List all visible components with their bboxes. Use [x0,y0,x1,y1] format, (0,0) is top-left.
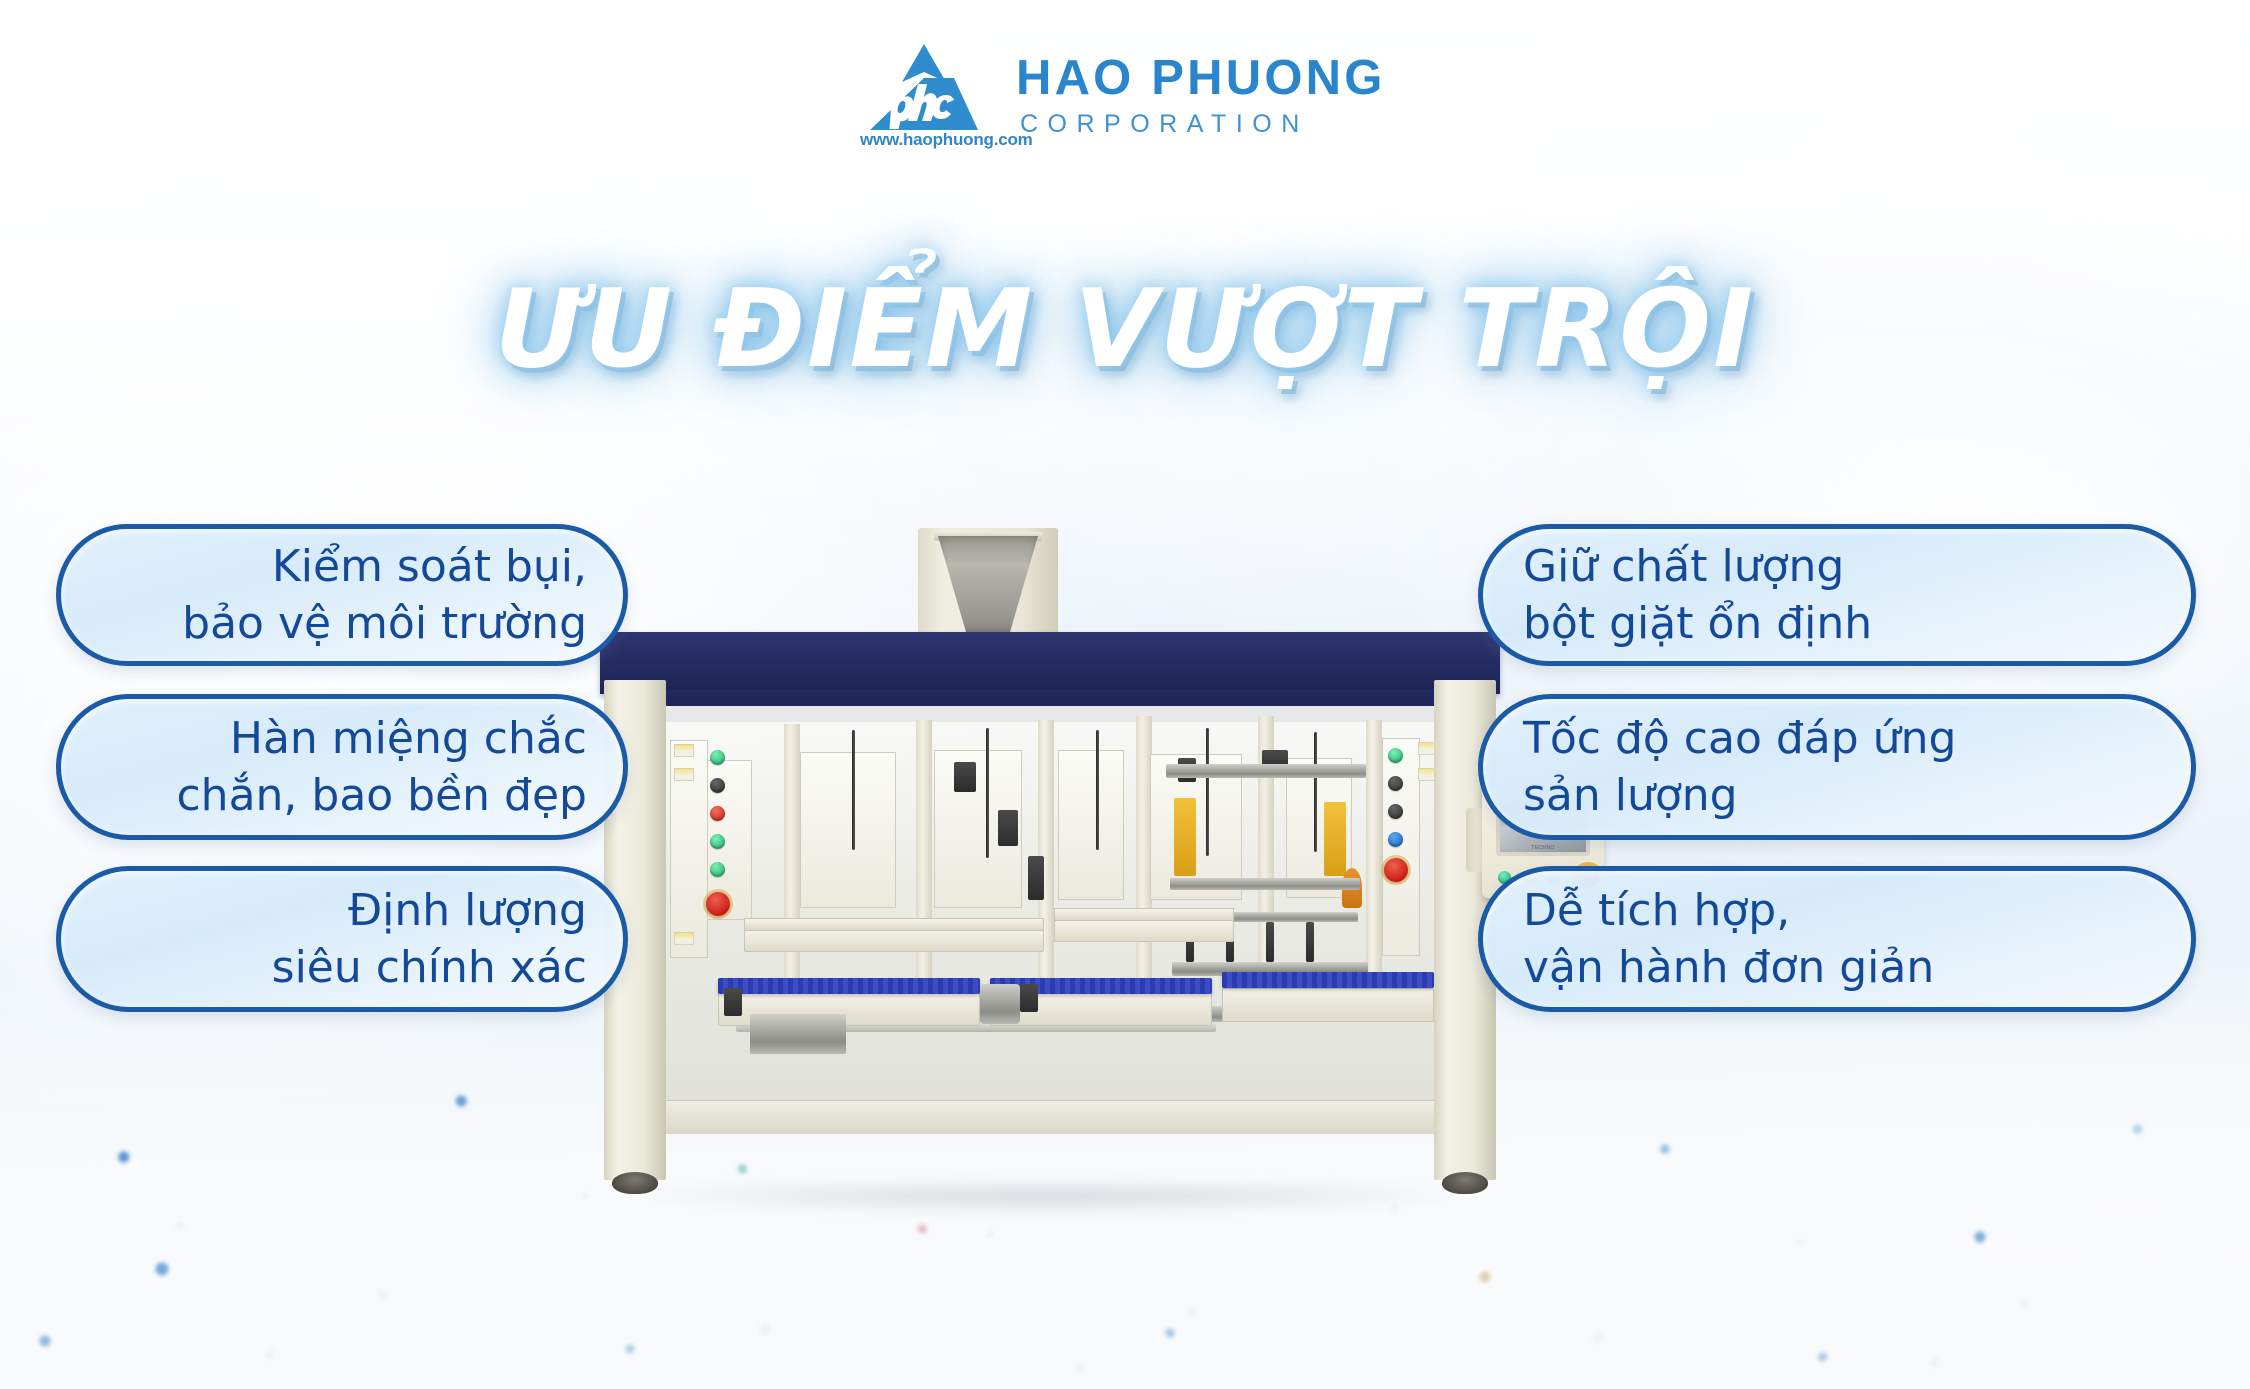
feature-pill-stable-quality[interactable]: Giữ chất lượngbột giặt ổn định [1478,524,2196,666]
machine-right-foot [1442,1172,1488,1194]
brand-website: www.haophuong.com [860,130,1033,150]
feature-pill-high-speed[interactable]: Tốc độ cao đáp ứngsản lượng [1478,694,2196,840]
brand-name: HAO PHUONG [1016,53,1386,104]
packaging-machine-photo [600,540,1500,1200]
brand-logo[interactable]: www.haophuong.com HAO PHUONG CORPORATION [858,38,1386,150]
feature-pill-precise-dosing-label: Định lượngsiêu chính xác [272,882,623,996]
brand-wordmark: HAO PHUONG CORPORATION [1016,49,1386,139]
scrap-tray [750,1014,846,1054]
feature-pill-high-speed-label: Tốc độ cao đáp ứngsản lượng [1483,710,1956,824]
machine-canopy [600,632,1500,694]
feature-pill-dust-control-label: Kiểm soát bụi,bảo vệ môi trường [182,538,623,652]
feature-pill-strong-seal[interactable]: Hàn miệng chắcchắn, bao bền đẹp [56,694,628,840]
feature-pill-dust-control[interactable]: Kiểm soát bụi,bảo vệ môi trường [56,524,628,666]
feature-pill-precise-dosing[interactable]: Định lượngsiêu chính xác [56,866,628,1012]
conveyor-belt-1 [718,978,980,994]
hpc-mountain-logo-icon: www.haophuong.com [858,38,990,150]
machine-left-foot [612,1172,658,1194]
feature-pill-easy-integrate-label: Dễ tích hợp,vận hành đơn giản [1483,882,1934,996]
machine-floor-shadow [620,1186,1480,1214]
feature-pill-stable-quality-label: Giữ chất lượngbột giặt ổn định [1483,538,1872,652]
conveyor-belt-3 [1222,972,1434,988]
brand-subtitle: CORPORATION [1016,110,1386,139]
infographic-canvas: www.haophuong.com HAO PHUONG CORPORATION… [0,0,2250,1389]
machine-base-plate [666,1100,1434,1134]
conveyor-section-3-body [1222,988,1434,1022]
page-title: ƯU ĐIỂM VƯỢT TRỘI [0,268,2250,392]
machine-interior [666,706,1434,1126]
feature-pill-easy-integrate[interactable]: Dễ tích hợp,vận hành đơn giản [1478,866,2196,1012]
hmi-screen-brand: TECHNO [1500,845,1586,851]
feature-pill-strong-seal-label: Hàn miệng chắcchắn, bao bền đẹp [176,710,623,824]
